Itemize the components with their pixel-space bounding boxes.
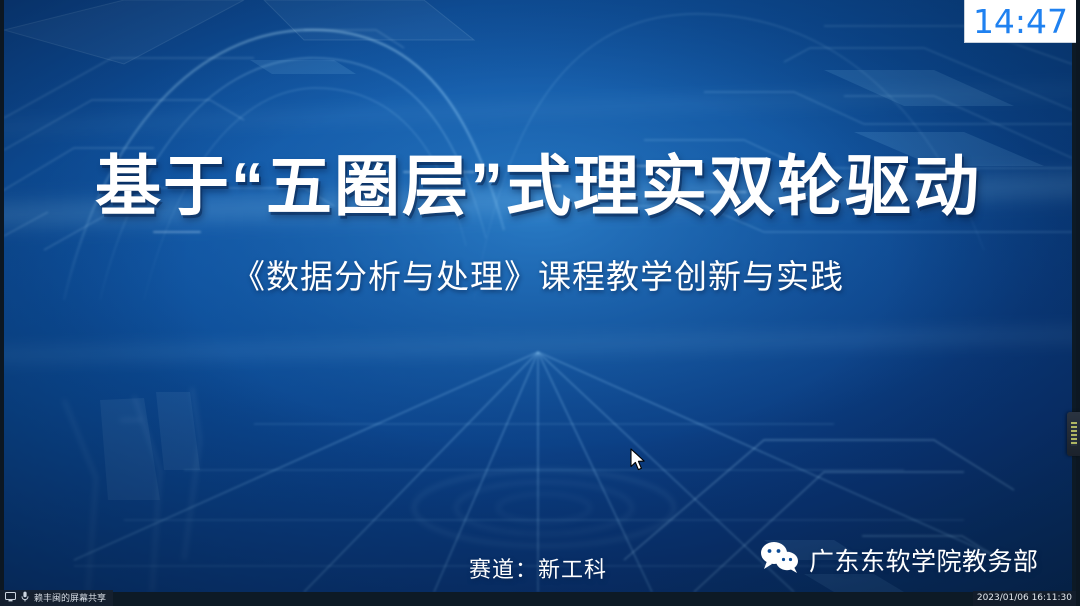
side-panel-handle[interactable] — [1067, 412, 1080, 456]
recording-timestamp-value: 2023/01/06 16:11:30 — [977, 594, 1072, 603]
recording-timestamp: 2023/01/06 16:11:30 — [973, 591, 1076, 606]
wechat-credit: 广东东软学院教务部 — [760, 541, 1039, 578]
microphone-icon — [21, 589, 29, 606]
frame-edge-left — [0, 0, 4, 606]
wechat-icon — [760, 541, 800, 578]
screen-share-viewport: 基于“五圈层”式理实双轮驱动 《数据分析与处理》课程教学创新与实践 赛道：新工科… — [0, 0, 1080, 606]
presentation-slide: 基于“五圈层”式理实双轮驱动 《数据分析与处理》课程教学创新与实践 赛道：新工科… — [4, 0, 1072, 592]
panel-grip-icon — [1071, 422, 1077, 446]
countdown-timer-value: 14:47 — [973, 5, 1068, 38]
frame-edge-right — [1076, 0, 1080, 606]
screen-share-label: 赖丰闽的屏幕共享 — [34, 594, 106, 603]
screen-share-indicator[interactable]: 赖丰闽的屏幕共享 — [0, 590, 113, 606]
wechat-credit-label: 广东东软学院教务部 — [809, 542, 1039, 578]
countdown-timer-badge: 14:47 — [964, 0, 1076, 43]
monitor-icon — [5, 589, 16, 606]
